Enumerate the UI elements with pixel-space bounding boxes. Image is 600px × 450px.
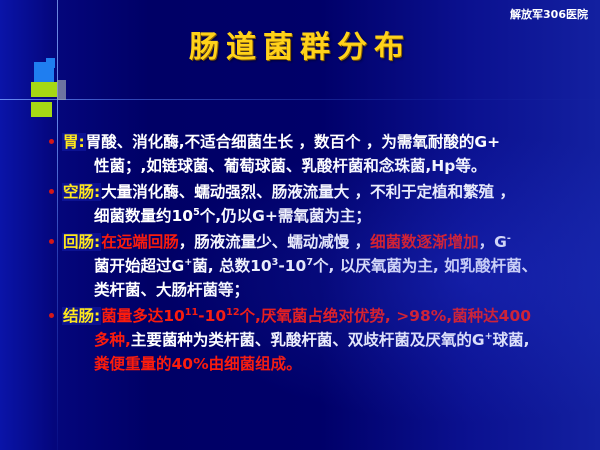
bullet-text-ileum-emph1: 在远端回肠 — [101, 233, 179, 251]
bullet-label-jejunum: 空肠: — [62, 183, 101, 201]
colon-species-emph: 多种, — [94, 331, 131, 349]
bullet-text-ileum-emph2: 细菌数逐渐增加 — [370, 233, 479, 251]
bullet-text-jejunum-line2: 细菌数量约105个,仍以G+需氧菌为主； — [62, 204, 594, 228]
bullet-dot-icon — [49, 139, 54, 144]
jejunum-exponent: 5 — [193, 207, 200, 218]
colon-count-mid: -10 — [198, 307, 226, 325]
grey-square-decoration — [57, 80, 66, 100]
bullet-text-colon-line3: 粪便重量的40%由细菌组成。 — [62, 352, 594, 376]
bullet-text-ileum-plain1: ，肠液流量少、蠕动减慢 ， — [179, 233, 370, 251]
colon-species-plain: 主要菌种为类杆菌、乳酸杆菌、双歧杆菌及厌氧的G — [131, 331, 485, 349]
colon-count-prefix: 菌量多达10 — [101, 307, 185, 325]
colon-exponent-low: 11 — [185, 307, 198, 318]
ileum-line2-c: -10 — [278, 257, 306, 275]
list-item: 胃:胃酸、消化酶,不适合细菌生长 ，数百个 ，为需氧耐酸的G+ 性菌；,如链球菌… — [48, 130, 594, 178]
bullet-label-ileum: 回肠: — [62, 233, 101, 251]
green-square-decoration-lower — [31, 102, 52, 117]
green-square-decoration-upper — [31, 82, 57, 97]
ileum-line2-d: 个, 以厌氧菌为主, 如乳酸杆菌、 — [313, 257, 537, 275]
bullet-list: 胃:胃酸、消化酶,不适合细菌生长 ，数百个 ，为需氧耐酸的G+ 性菌；,如链球菌… — [48, 130, 594, 378]
bullet-text-ileum-line3: 类杆菌、大肠杆菌等； — [62, 278, 594, 302]
presentation-slide: 解放军306医院 肠道菌群分布 胃:胃酸、消化酶,不适合细菌生长 ，数百个 ，为… — [0, 0, 600, 450]
list-item: 回肠:在远端回肠，肠液流量少、蠕动减慢 ，细菌数逐渐增加，G- 菌开始超过G+菌… — [48, 230, 594, 302]
bullet-text-ileum-plain2: ，G — [479, 233, 507, 251]
bullet-label-colon: 结肠: — [62, 307, 101, 325]
colon-count-suffix: 个,厌氧菌占绝对优势, >98%,菌种达400 — [240, 307, 532, 325]
bullet-dot-icon — [49, 313, 54, 318]
bullet-text-jejunum-line1: 大量消化酶、蠕动强烈、肠液流量大 ，不利于定植和繁殖 ， — [101, 183, 515, 201]
hospital-name-tag: 解放军306医院 — [510, 6, 588, 22]
ileum-line2-a: 菌开始超过G — [94, 257, 184, 275]
bullet-dot-icon — [49, 239, 54, 244]
list-item: 结肠:菌量多达1011-1012个,厌氧菌占绝对优势, >98%,菌种达400 … — [48, 304, 594, 376]
bullet-text-ileum-line2: 菌开始超过G+菌, 总数103-107个, 以厌氧菌为主, 如乳酸杆菌、 — [62, 254, 594, 278]
bullet-text-stomach-line2: 性菌；,如链球菌、葡萄球菌、乳酸杆菌和念珠菌,Hp等。 — [62, 154, 594, 178]
colon-species-plain-tail: 球菌, — [493, 331, 530, 349]
colon-gram-positive-sign: + — [485, 331, 493, 342]
list-item: 空肠:大量消化酶、蠕动强烈、肠液流量大 ，不利于定植和繁殖 ， 细菌数量约105… — [48, 180, 594, 228]
horizontal-rule-decoration — [0, 99, 600, 100]
bullet-dot-icon — [49, 189, 54, 194]
jejunum-count-suffix: 个,仍以G+需氧菌为主； — [200, 207, 371, 225]
page-title: 肠道菌群分布 — [0, 22, 600, 66]
colon-exponent-high: 12 — [226, 307, 239, 318]
bullet-label-stomach: 胃: — [62, 133, 86, 151]
ileum-gram-negative-sign: - — [507, 233, 511, 244]
bullet-text-colon-line2: 多种,主要菌种为类杆菌、乳酸杆菌、双歧杆菌及厌氧的G+球菌, — [62, 328, 594, 352]
bullet-text-stomach-line1: 胃酸、消化酶,不适合细菌生长 ，数百个 ，为需氧耐酸的G+ — [86, 133, 500, 151]
ileum-line2-b: 菌, 总数10 — [192, 257, 271, 275]
jejunum-count-prefix: 细菌数量约10 — [94, 207, 193, 225]
